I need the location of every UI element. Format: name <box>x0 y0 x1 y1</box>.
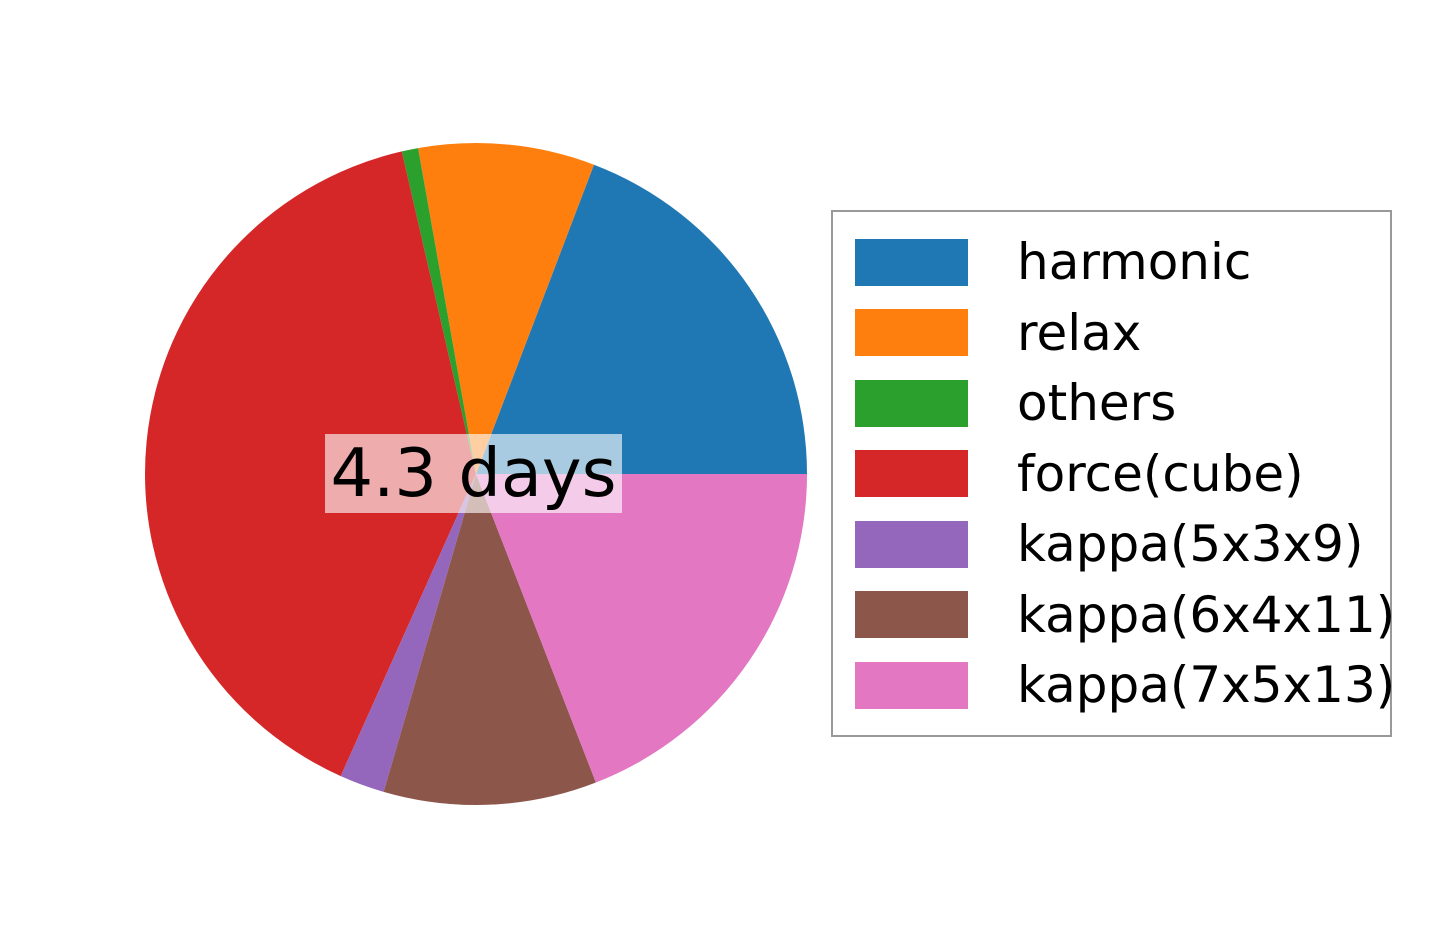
legend-swatch-kappa-6x4x11 <box>855 591 968 638</box>
legend-item-harmonic[interactable]: harmonic <box>833 228 1390 296</box>
legend-swatch-kappa-5x3x9 <box>855 521 968 568</box>
legend-item-kappa-6x4x11[interactable]: kappa(6x4x11) <box>833 581 1390 649</box>
legend-label-relax: relax <box>1017 308 1141 358</box>
legend-swatch-harmonic <box>855 239 968 286</box>
chart-legend: harmonic relax others force(cube) kappa(… <box>831 210 1392 737</box>
legend-item-force-cube[interactable]: force(cube) <box>833 440 1390 508</box>
legend-swatch-relax <box>855 309 968 356</box>
pie-slice-group <box>145 143 807 805</box>
legend-item-others[interactable]: others <box>833 369 1390 437</box>
legend-label-force-cube: force(cube) <box>1017 449 1304 499</box>
legend-label-others: others <box>1017 378 1176 428</box>
pie-svg <box>0 0 830 951</box>
pie-plot-area: 4.3 days <box>0 0 830 951</box>
legend-swatch-force-cube <box>855 450 968 497</box>
pie-chart-figure: 4.3 days harmonic relax others force(cub… <box>0 0 1451 951</box>
legend-label-kappa-5x3x9: kappa(5x3x9) <box>1017 519 1363 569</box>
legend-label-harmonic: harmonic <box>1017 237 1251 287</box>
legend-label-kappa-6x4x11: kappa(6x4x11) <box>1017 590 1395 640</box>
legend-item-kappa-7x5x13[interactable]: kappa(7x5x13) <box>833 651 1390 719</box>
legend-swatch-others <box>855 380 968 427</box>
legend-item-relax[interactable]: relax <box>833 299 1390 367</box>
legend-item-kappa-5x3x9[interactable]: kappa(5x3x9) <box>833 510 1390 578</box>
legend-swatch-kappa-7x5x13 <box>855 662 968 709</box>
legend-label-kappa-7x5x13: kappa(7x5x13) <box>1017 660 1395 710</box>
